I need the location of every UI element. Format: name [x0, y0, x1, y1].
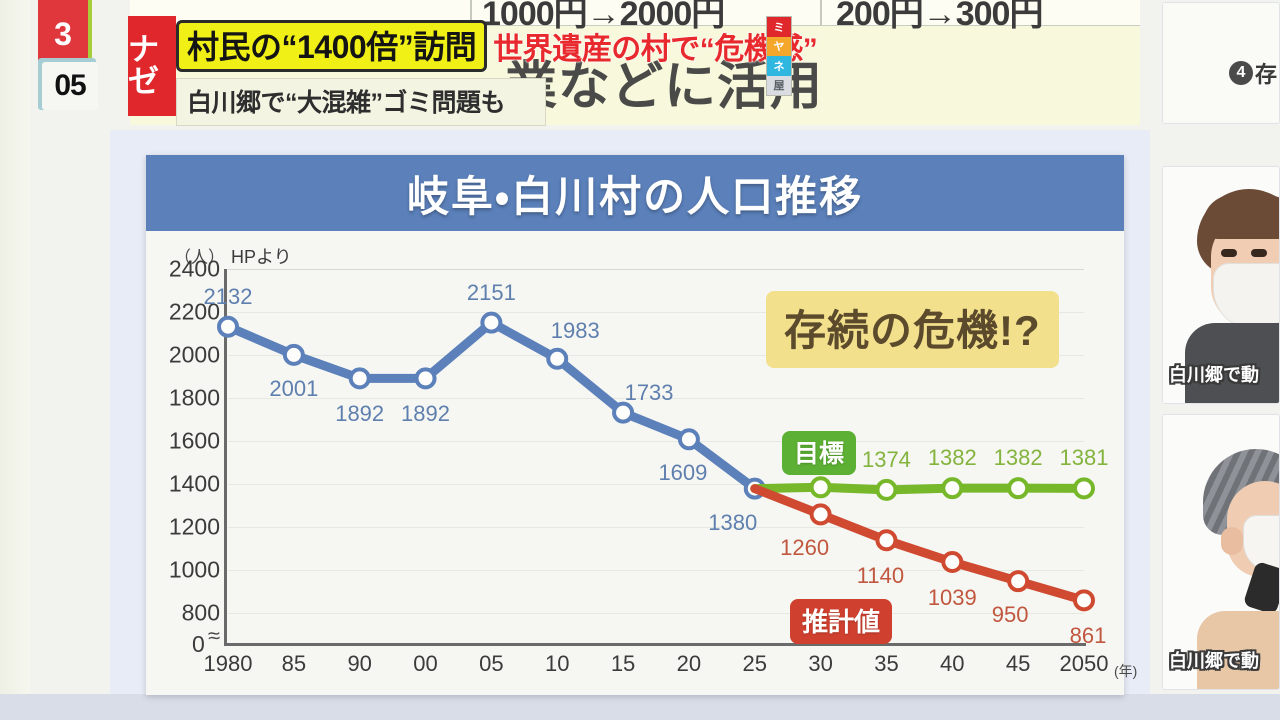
y-tick-2400: 2400 — [169, 256, 220, 283]
gridline-minor — [228, 527, 1084, 528]
data-label-1382: 1382 — [928, 445, 977, 471]
y-axis-line — [224, 269, 227, 643]
x-axis-line — [224, 643, 1086, 646]
circled-four-icon: 4 — [1229, 61, 1253, 85]
data-label-1260: 1260 — [780, 535, 829, 561]
data-label-1892: 1892 — [401, 401, 450, 427]
chart-title: 岐阜・白川村の人口推移 — [407, 163, 863, 224]
data-label-1140: 1140 — [857, 563, 904, 589]
topic-number-badge: 4 存 — [1229, 57, 1277, 89]
data-label-1892: 1892 — [335, 401, 384, 427]
data-label-1609: 1609 — [658, 460, 707, 486]
clock-minute-value: 05 — [54, 69, 85, 103]
data-label-2001: 2001 — [269, 376, 318, 402]
data-label-1983: 1983 — [551, 318, 600, 344]
sidebar-card-interview-2[interactable]: 白川郷で動 — [1162, 414, 1280, 690]
gridline-minor — [228, 570, 1084, 571]
y-tick-1800: 1800 — [169, 385, 220, 412]
chart-header: 岐阜・白川村の人口推移 — [146, 155, 1124, 231]
x-tick-45: 45 — [1006, 651, 1030, 677]
chart-source-label: HPより — [231, 243, 292, 269]
station-logo-char-0: ミ — [767, 17, 791, 37]
headline-highlight-text: 村民の“1400倍”訪問 — [187, 22, 476, 68]
topic-number-text: 存 — [1255, 57, 1277, 89]
data-label-1733: 1733 — [625, 380, 674, 406]
interview-caption-1: 白川郷で動 — [1169, 361, 1259, 387]
headline-row: 村民の“1400倍”訪問 世界遺産の村で“危機感” — [176, 16, 817, 76]
target-legend-tag: 目標 — [782, 431, 856, 475]
x-tick-2050: 2050 — [1060, 651, 1109, 677]
data-label-861: 861 — [1070, 623, 1107, 649]
station-logo-char-1: ヤ — [767, 37, 791, 57]
data-label-2151: 2151 — [467, 280, 516, 306]
x-tick-1980: 1980 — [204, 651, 253, 677]
x-tick-15: 15 — [611, 651, 635, 677]
x-tick-05: 05 — [479, 651, 503, 677]
interview-caption-2: 白川郷で動 — [1169, 647, 1259, 673]
data-label-1374: 1374 — [862, 447, 911, 473]
gridline-minor — [228, 613, 1084, 614]
person-eye-right — [1251, 249, 1267, 257]
crisis-callout-text: 存続の危機!? — [784, 307, 1041, 354]
y-tick-1600: 1600 — [169, 428, 220, 455]
headline-subtitle-box: 白川郷で“大混雑”ゴミ問題も — [176, 78, 546, 126]
x-tick-10: 10 — [545, 651, 569, 677]
headline-content: 村民の“1400倍”訪問 世界遺産の村で“危機感” 白川郷で“大混雑”ゴミ問題も — [176, 16, 817, 126]
clock-hour-value: 3 — [54, 18, 72, 50]
person-eye-left — [1221, 249, 1237, 257]
clock-badge: 3 05 — [38, 0, 104, 122]
bottom-band — [0, 694, 1280, 720]
naze-badge: ナゼ — [128, 16, 176, 116]
clock-minute: 05 — [42, 62, 98, 110]
x-tick-85: 85 — [282, 651, 306, 677]
headline-subtitle-text: 白川郷で“大混雑”ゴミ問題も — [187, 89, 505, 117]
sidebar-card-interview-1[interactable]: 白川郷で動 — [1162, 166, 1280, 404]
crisis-callout: 存続の危機!? — [766, 291, 1059, 368]
data-label-1382: 1382 — [994, 445, 1043, 471]
x-tick-25: 25 — [743, 651, 767, 677]
data-label-2132: 2132 — [204, 284, 253, 310]
x-tick-00: 00 — [413, 651, 437, 677]
data-label-1381: 1381 — [1060, 445, 1109, 471]
data-label-1039: 1039 — [928, 585, 977, 611]
station-logo-char-2: ネ — [767, 56, 791, 76]
x-tick-40: 40 — [940, 651, 964, 677]
x-tick-35: 35 — [874, 651, 898, 677]
headline-group: ナゼ 村民の“1400倍”訪問 世界遺産の村で“危機感” 白川郷で“大混雑”ゴミ… — [128, 16, 817, 126]
axis-break-icon: ≈ — [207, 623, 221, 650]
gridline — [228, 269, 1084, 270]
estimate-legend-tag: 推計値 — [790, 599, 892, 644]
chart-card: 岐阜・白川村の人口推移 （人） HPより 2400220020001800160… — [146, 155, 1124, 695]
gridline-minor — [228, 441, 1084, 442]
person-fringe — [1203, 195, 1279, 239]
station-logo-char-3: 屋 — [767, 76, 791, 96]
sidebar-card-topic[interactable]: 4 存 — [1162, 2, 1280, 124]
y-tick-1000: 1000 — [169, 557, 220, 584]
station-logo: ミ ヤ ネ 屋 — [766, 16, 792, 96]
x-tick-20: 20 — [677, 651, 701, 677]
chart-body: （人） HPより 2400220020001800160014001200100… — [146, 231, 1124, 695]
right-sidebar: 4 存 白川郷で動 白川郷で動 — [1158, 0, 1280, 720]
headline-highlight-box: 村民の“1400倍”訪問 — [176, 20, 487, 72]
x-tick-30: 30 — [808, 651, 832, 677]
y-tick-1200: 1200 — [169, 514, 220, 541]
data-label-950: 950 — [992, 602, 1029, 628]
x-tick-90: 90 — [347, 651, 371, 677]
gridline-minor — [228, 484, 1084, 485]
ticker-item-2: 200円→300円 — [836, 0, 1042, 35]
left-edge-strip — [0, 0, 30, 720]
y-tick-2000: 2000 — [169, 342, 220, 369]
ticker-divider — [820, 0, 822, 26]
y-tick-1400: 1400 — [169, 471, 220, 498]
x-axis-unit-label: (年) — [1114, 661, 1137, 681]
person-ear — [1221, 527, 1243, 555]
data-label-1380: 1380 — [708, 510, 757, 536]
